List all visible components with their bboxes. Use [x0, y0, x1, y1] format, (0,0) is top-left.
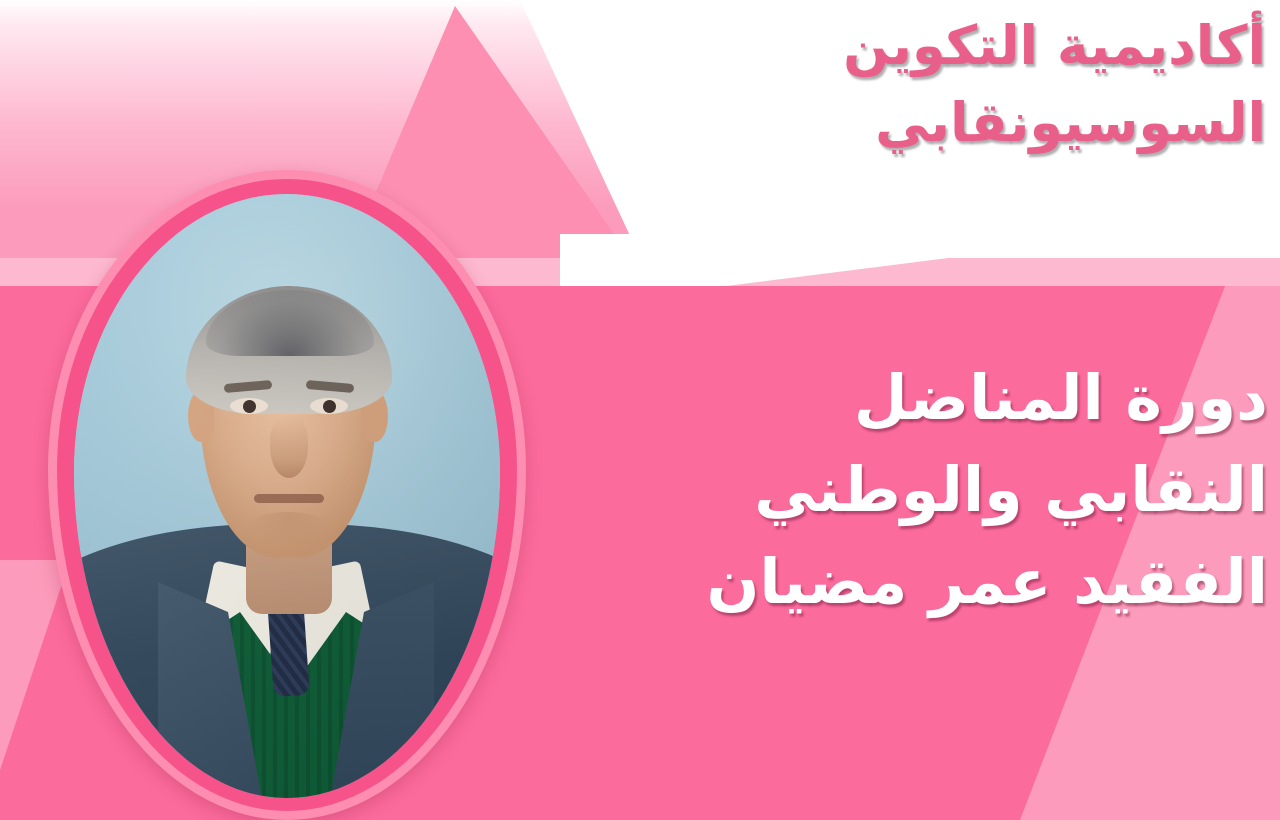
- portrait-frame: [48, 170, 526, 820]
- portrait-photo: [74, 194, 500, 798]
- event-title: دورة المناضل النقابي والوطني الفقيد عمر …: [520, 352, 1268, 627]
- organization-title-line-2: السوسيونقابي: [560, 85, 1266, 162]
- event-title-line-2: النقابي والوطني: [520, 444, 1268, 536]
- organization-title-line-1: أكاديمية التكوين: [560, 8, 1266, 85]
- event-title-line-3: الفقيد عمر مضيان: [520, 536, 1268, 628]
- poster-canvas: أكاديمية التكوين السوسيونقابي دورة المنا…: [0, 0, 1280, 820]
- photo-grain-overlay: [74, 194, 500, 798]
- event-title-line-1: دورة المناضل: [520, 352, 1268, 444]
- organization-title: أكاديمية التكوين السوسيونقابي: [560, 8, 1266, 161]
